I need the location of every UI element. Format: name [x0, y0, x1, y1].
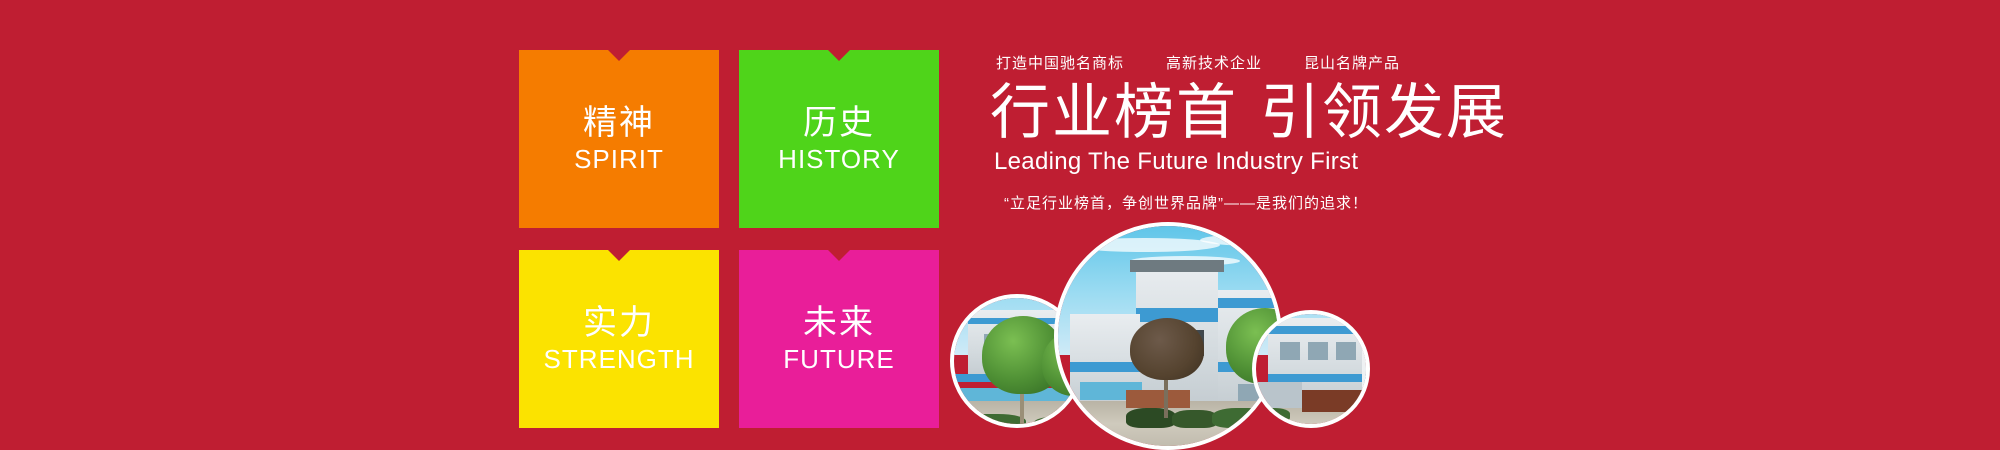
headline-block: 打造中国驰名商标 高新技术企业 昆山名牌产品 行业榜首引领发展 Leading …	[990, 52, 1510, 213]
photo-lobe-right	[1252, 310, 1370, 428]
notch-icon	[828, 50, 850, 61]
headline-part-2: 引领发展	[1260, 79, 1508, 146]
badge-trademark: 打造中国驰名商标	[996, 52, 1124, 73]
notch-icon	[608, 250, 630, 261]
notch-icon	[828, 250, 850, 261]
headline-part-1: 行业榜首	[990, 79, 1238, 146]
tile-spirit-cn: 精神	[519, 106, 719, 140]
tile-history[interactable]: 历史 HISTORY	[739, 50, 939, 228]
credential-badges: 打造中国驰名商标 高新技术企业 昆山名牌产品	[990, 52, 1510, 73]
tile-strength-en: STRENGTH	[519, 346, 719, 372]
slogan-quote: “立足行业榜首，争创世界品牌”——是我们的追求！	[990, 192, 1510, 213]
tile-spirit-en: SPIRIT	[519, 146, 719, 172]
promo-banner: 精神 SPIRIT 历史 HISTORY 实力 STRENGTH 未来 FUTU…	[0, 0, 2000, 450]
tile-strength-cn: 实力	[519, 306, 719, 340]
factory-photo-collage	[950, 222, 1410, 450]
tile-future-cn: 未来	[739, 306, 939, 340]
badge-brand: 昆山名牌产品	[1304, 52, 1400, 73]
value-tiles: 精神 SPIRIT 历史 HISTORY 实力 STRENGTH 未来 FUTU…	[519, 50, 939, 410]
subtitle-english: Leading The Future Industry First	[990, 148, 1510, 176]
tile-history-cn: 历史	[739, 106, 939, 140]
tile-strength[interactable]: 实力 STRENGTH	[519, 250, 719, 428]
photo-lobe-center	[1054, 222, 1282, 450]
notch-icon	[608, 50, 630, 61]
tile-future[interactable]: 未来 FUTURE	[739, 250, 939, 428]
page-title: 行业榜首引领发展	[990, 81, 1510, 144]
tile-future-en: FUTURE	[739, 346, 939, 372]
badge-hightech: 高新技术企业	[1166, 52, 1262, 73]
tile-spirit[interactable]: 精神 SPIRIT	[519, 50, 719, 228]
tile-history-en: HISTORY	[739, 146, 939, 172]
